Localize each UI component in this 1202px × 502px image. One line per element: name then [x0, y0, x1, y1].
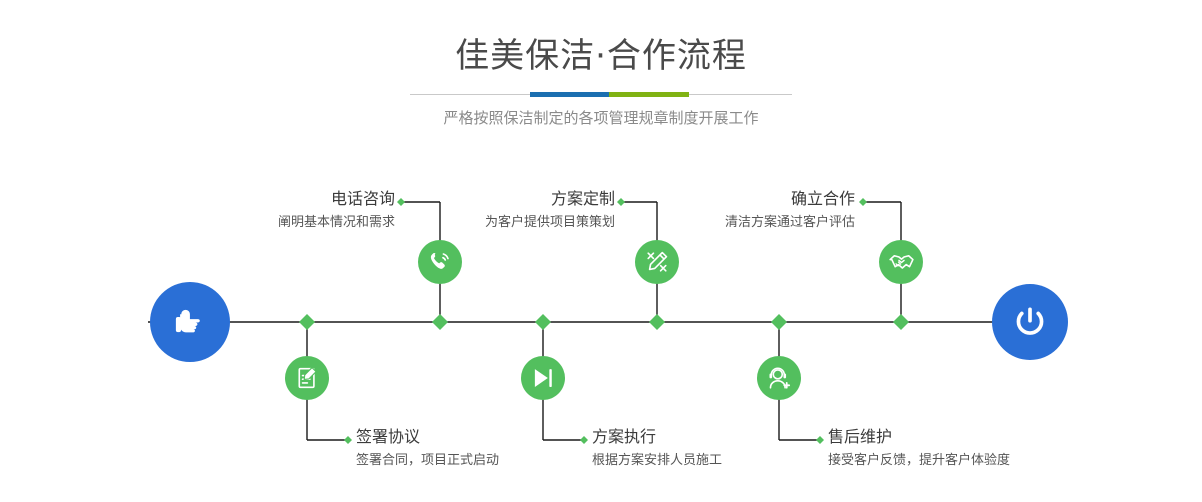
- flow-end-node[interactable]: [992, 284, 1068, 360]
- flow-label-2: 签署协议 签署合同，项目正式启动: [356, 426, 606, 471]
- flow-label-5-desc: 清洁方案通过客户评估: [615, 213, 855, 233]
- timeline-diamond-4: [649, 314, 665, 330]
- timeline-diamond-6: [893, 314, 909, 330]
- infographic-page: 佳美保洁·合作流程 严格按照保洁制定的各项管理规章制度开展工作: [0, 0, 1202, 502]
- timeline-diamond-2: [432, 314, 448, 330]
- label-markers: [344, 198, 867, 444]
- flow-step-node-3[interactable]: [635, 240, 679, 284]
- headset-support-icon: [766, 365, 792, 391]
- process-flow-diagram: 电话咨询 阐明基本情况和需求 方案定制 为客户提供项目策策划 确立合作 清洁方案…: [0, 0, 1202, 502]
- power-icon: [1009, 301, 1051, 343]
- flow-step-node-1[interactable]: [418, 240, 462, 284]
- flow-label-1-title: 电话咨询: [150, 188, 395, 210]
- flow-label-4-title: 方案执行: [592, 426, 842, 448]
- label-diamond-5: [859, 198, 867, 206]
- flow-label-4-desc: 根据方案安排人员施工: [592, 451, 842, 471]
- pencil-design-icon: [644, 249, 670, 275]
- flow-step-node-4[interactable]: [521, 356, 565, 400]
- flow-label-3-title: 方案定制: [375, 188, 615, 210]
- label-diamond-2: [344, 436, 352, 444]
- flow-label-6-desc: 接受客户反馈，提升客户体验度: [828, 451, 1088, 471]
- phone-call-icon: [427, 249, 453, 275]
- flow-start-node[interactable]: [150, 282, 230, 362]
- flow-label-5-title: 确立合作: [615, 188, 855, 210]
- document-pen-icon: [294, 365, 320, 391]
- handshake-icon: [888, 249, 915, 276]
- timeline-diamond-5: [771, 314, 787, 330]
- flow-step-node-6[interactable]: [757, 356, 801, 400]
- play-execute-icon: [530, 365, 556, 391]
- flow-label-3-desc: 为客户提供项目策策划: [375, 213, 615, 233]
- timeline-diamond-1: [299, 314, 315, 330]
- flow-label-2-title: 签署协议: [356, 426, 606, 448]
- flow-label-6-title: 售后维护: [828, 426, 1088, 448]
- flow-label-1: 电话咨询 阐明基本情况和需求: [150, 188, 395, 233]
- flow-label-1-desc: 阐明基本情况和需求: [150, 213, 395, 233]
- flow-label-5: 确立合作 清洁方案通过客户评估: [615, 188, 855, 233]
- flow-label-2-desc: 签署合同，项目正式启动: [356, 451, 606, 471]
- flow-label-4: 方案执行 根据方案安排人员施工: [592, 426, 842, 471]
- timeline-diamond-3: [535, 314, 551, 330]
- flow-step-node-2[interactable]: [285, 356, 329, 400]
- flow-step-node-5[interactable]: [879, 240, 923, 284]
- flow-label-6: 售后维护 接受客户反馈，提升客户体验度: [828, 426, 1088, 471]
- pointing-hand-icon: [168, 300, 212, 344]
- flow-label-3: 方案定制 为客户提供项目策策划: [375, 188, 615, 233]
